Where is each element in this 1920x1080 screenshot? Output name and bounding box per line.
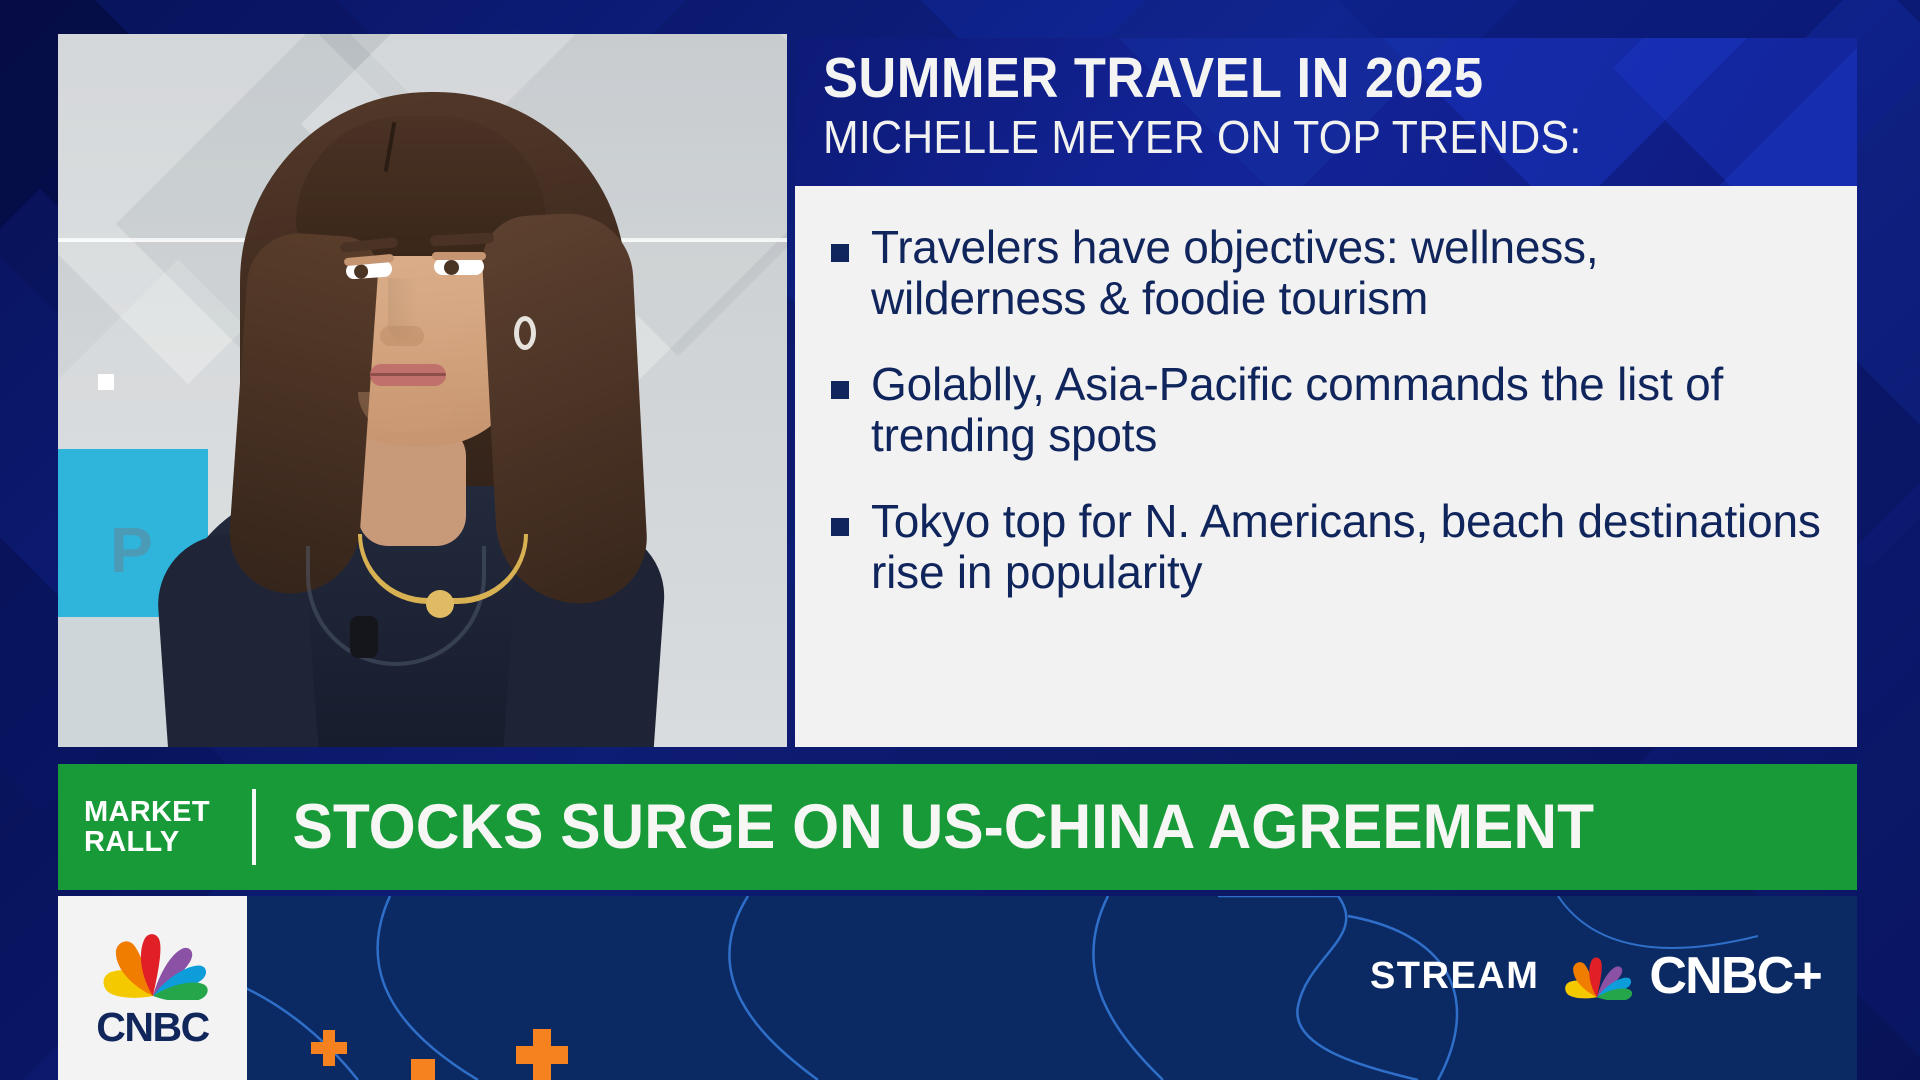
orange-plus-small-1 [311,1042,347,1054]
ticker-category-tag: MARKET RALLY [58,797,248,858]
bullet-text: Travelers have objectives: wellness, wil… [871,222,1823,323]
trends-bullet-panel: Travelers have objectives: wellness, wil… [795,186,1857,747]
bullet-item: Golablly, Asia-Pacific commands the list… [831,359,1823,460]
lip-line [370,373,446,376]
segment-subtitle: MICHELLE MEYER ON TOP TRENDS: [823,114,1775,160]
lower-third-title-block: SUMMER TRAVEL IN 2025 MICHELLE MEYER ON … [795,38,1857,186]
necklace-pendant [426,590,454,618]
bullet-square-icon [831,381,849,399]
eye-right [434,258,484,275]
bullet-square-icon [831,518,849,536]
live-video-feed: P [58,34,787,747]
cnbc-logo-text: CNBC [96,1004,208,1051]
footer-bar: CNBC STREAM CNBC+ [58,896,1857,1080]
orange-plus-medium [516,1046,568,1064]
ticker-headline: STOCKS SURGE ON US-CHINA AGREEMENT [256,791,1594,863]
news-ticker-banner: MARKET RALLY STOCKS SURGE ON US-CHINA AG… [58,764,1857,890]
nose-tip [380,326,424,346]
segment-title: SUMMER TRAVEL IN 2025 [823,50,1765,107]
cnbc-logo-block: CNBC [58,896,247,1080]
bullet-text: Golablly, Asia-Pacific commands the list… [871,359,1823,460]
bullet-text: Tokyo top for N. Americans, beach destin… [871,496,1823,597]
bullet-square-icon [831,244,849,262]
stream-label: STREAM [1370,955,1539,998]
hair-lock-left [226,230,381,598]
ticker-tag-line-2: RALLY [84,827,248,857]
eyelid-right [432,252,486,260]
nbc-peacock-small-icon [1561,952,1633,1000]
bullet-item: Tokyo top for N. Americans, beach destin… [831,496,1823,597]
hoop-earring [514,316,536,350]
stream-promo: STREAM CNBC+ [1370,946,1821,1006]
bullet-item: Travelers have objectives: wellness, wil… [831,222,1823,323]
nbc-peacock-icon [97,926,209,1000]
lapel-microphone [350,616,378,658]
cnbc-plus-brand: CNBC+ [1649,946,1821,1006]
guest-person [58,34,787,747]
ticker-tag-line-1: MARKET [84,797,248,827]
